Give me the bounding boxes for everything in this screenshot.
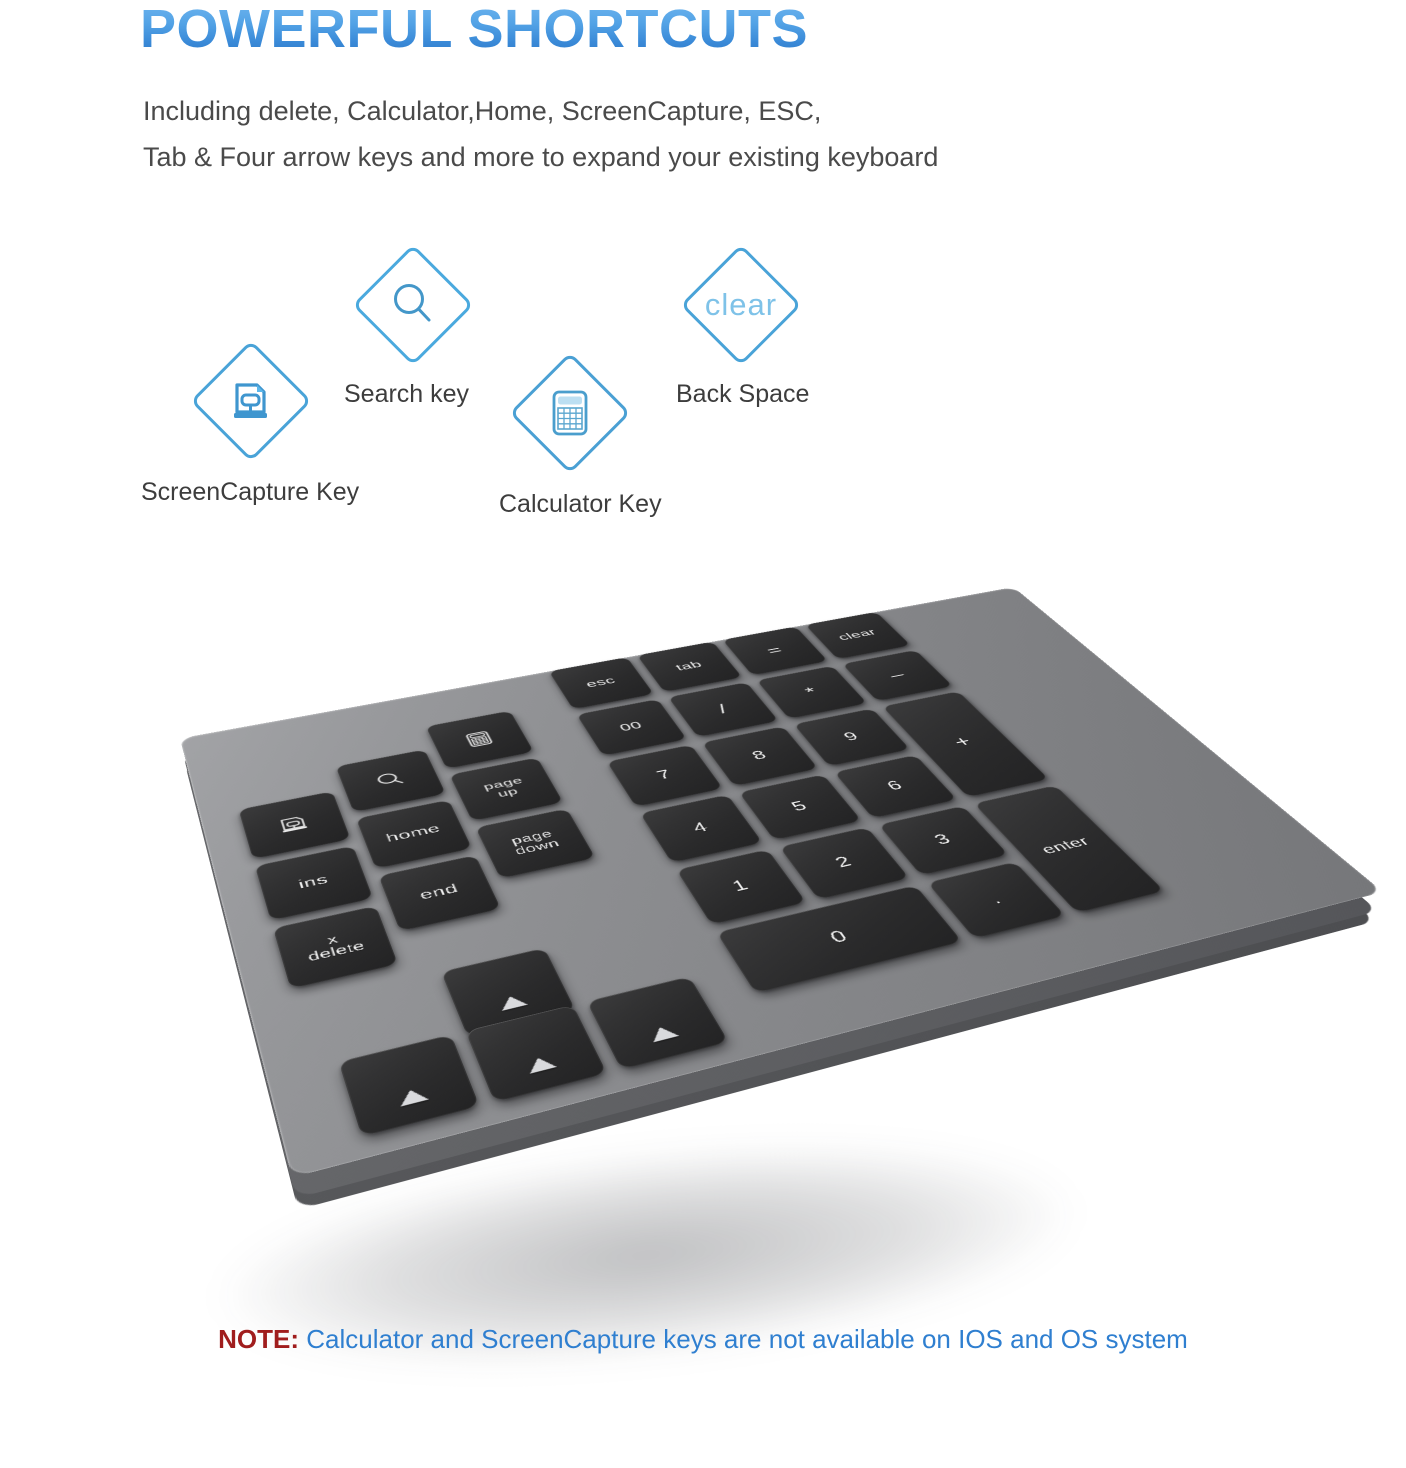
footer-note: NOTE: Calculator and ScreenCapture keys … [0, 1322, 1406, 1356]
key-label: 8 [749, 749, 770, 763]
key-esc[interactable]: esc [549, 657, 654, 709]
key-label: esc [584, 676, 618, 690]
arrow-down-icon [519, 1042, 551, 1062]
key-label: x delete [303, 928, 366, 963]
screen-capture-icon [273, 812, 314, 837]
key-pageup[interactable]: page up [449, 757, 563, 821]
key-num7[interactable]: 7 [607, 745, 723, 807]
key-label: 1 [729, 877, 752, 894]
key-label: 6 [884, 779, 906, 793]
key-num4[interactable]: 4 [640, 795, 763, 863]
key-label: = [763, 644, 786, 657]
numeric-keypad: ins home page up x delete end page down … [180, 587, 1383, 1178]
key-label: * [802, 685, 821, 698]
note-label: NOTE: [218, 1324, 299, 1354]
key-label: clear [836, 628, 879, 642]
key-label: . [986, 891, 1005, 907]
key-label: enter [1038, 835, 1093, 857]
key-clear[interactable]: clear [805, 612, 911, 659]
keyboard-scene: ins home page up x delete end page down … [0, 390, 1406, 1350]
key-label: ins [297, 873, 330, 891]
key-pagedown[interactable]: page down [475, 808, 595, 878]
badge-backspace: clear Back Space [676, 240, 806, 370]
clear-text-icon: clear [705, 287, 777, 323]
key-label: tab [674, 660, 705, 673]
note-text: Calculator and ScreenCapture keys are no… [306, 1324, 1188, 1354]
key-tab[interactable]: tab [637, 642, 742, 692]
badge-icon-slot [348, 240, 478, 370]
key-equals[interactable]: = [722, 626, 828, 675]
key-label: 5 [788, 799, 810, 814]
key-label: home [384, 822, 442, 844]
key-divide[interactable]: / [668, 682, 779, 737]
key-label: 00 [618, 720, 645, 733]
key-delete[interactable]: x delete [273, 906, 398, 989]
key-label: 2 [832, 854, 855, 870]
key-label: 4 [690, 820, 712, 835]
search-icon [386, 278, 440, 332]
arrow-up-icon [492, 982, 523, 1000]
key-label: 3 [931, 832, 955, 848]
key-label: page up [482, 776, 530, 801]
key-label: 7 [654, 768, 674, 782]
key-label: end [418, 882, 461, 902]
key-arrow-left[interactable] [339, 1034, 480, 1136]
key-double-zero[interactable]: 00 [576, 699, 686, 756]
page-title: POWERFUL SHORTCUTS [140, 0, 808, 58]
search-icon [370, 768, 411, 791]
key-label: page down [508, 828, 561, 856]
key-num8[interactable]: 8 [702, 726, 819, 786]
badge-icon-slot: clear [676, 240, 806, 370]
arrow-left-icon [392, 1073, 425, 1094]
badge-search: Search key [348, 240, 478, 370]
key-label: 0 [826, 928, 851, 947]
page-subtitle: Including delete, Calculator,Home, Scree… [143, 88, 1293, 180]
key-num1[interactable]: 1 [676, 849, 806, 924]
key-end[interactable]: end [378, 855, 501, 931]
keyboard-top-plate: ins home page up x delete end page down … [180, 587, 1383, 1178]
calculator-icon [461, 729, 497, 750]
key-label: / [715, 702, 731, 715]
arrow-right-icon [640, 1012, 672, 1031]
key-arrow-right[interactable] [587, 976, 729, 1069]
key-label: – [885, 668, 909, 682]
key-label: 9 [841, 730, 862, 743]
key-label: + [950, 734, 976, 750]
